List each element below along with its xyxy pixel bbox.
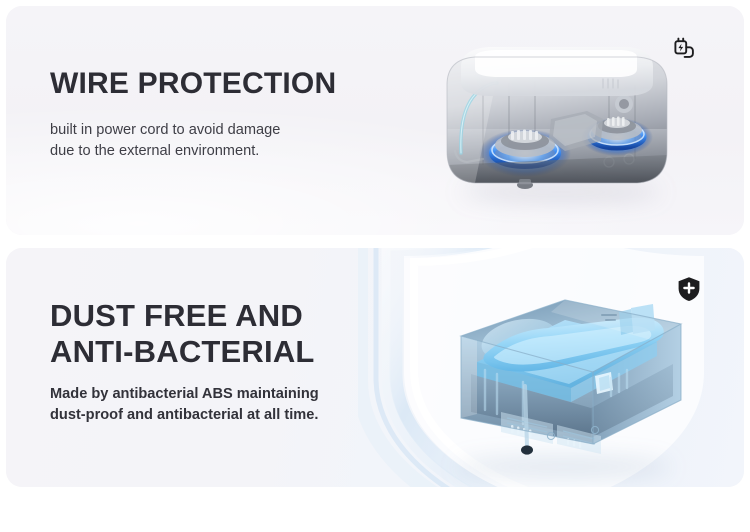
panel-headline: DUST FREE AND ANTI-BACTERIAL bbox=[50, 298, 319, 370]
feature-panels-page: WIRE PROTECTION built in power cord to a… bbox=[0, 0, 750, 532]
power-plug-bolt-icon bbox=[670, 33, 700, 63]
panel-dust-free-anti-bacterial: DUST FREE AND ANTI-BACTERIAL Made by ant… bbox=[6, 248, 744, 487]
panel-headline: WIRE PROTECTION bbox=[50, 67, 336, 102]
product-image-anti-bacterial bbox=[415, 278, 705, 468]
panel-subcopy: built in power cord to avoid damage due … bbox=[50, 120, 336, 162]
panel-wire-protection: WIRE PROTECTION built in power cord to a… bbox=[6, 6, 744, 235]
shield-plus-icon bbox=[674, 274, 704, 304]
text-block-anti-bacterial: DUST FREE AND ANTI-BACTERIAL Made by ant… bbox=[50, 298, 319, 426]
panel-subcopy: Made by antibacterial ABS maintaining du… bbox=[50, 384, 319, 426]
text-block-wire-protection: WIRE PROTECTION built in power cord to a… bbox=[50, 67, 336, 162]
product-image-wire-protection bbox=[431, 33, 687, 203]
